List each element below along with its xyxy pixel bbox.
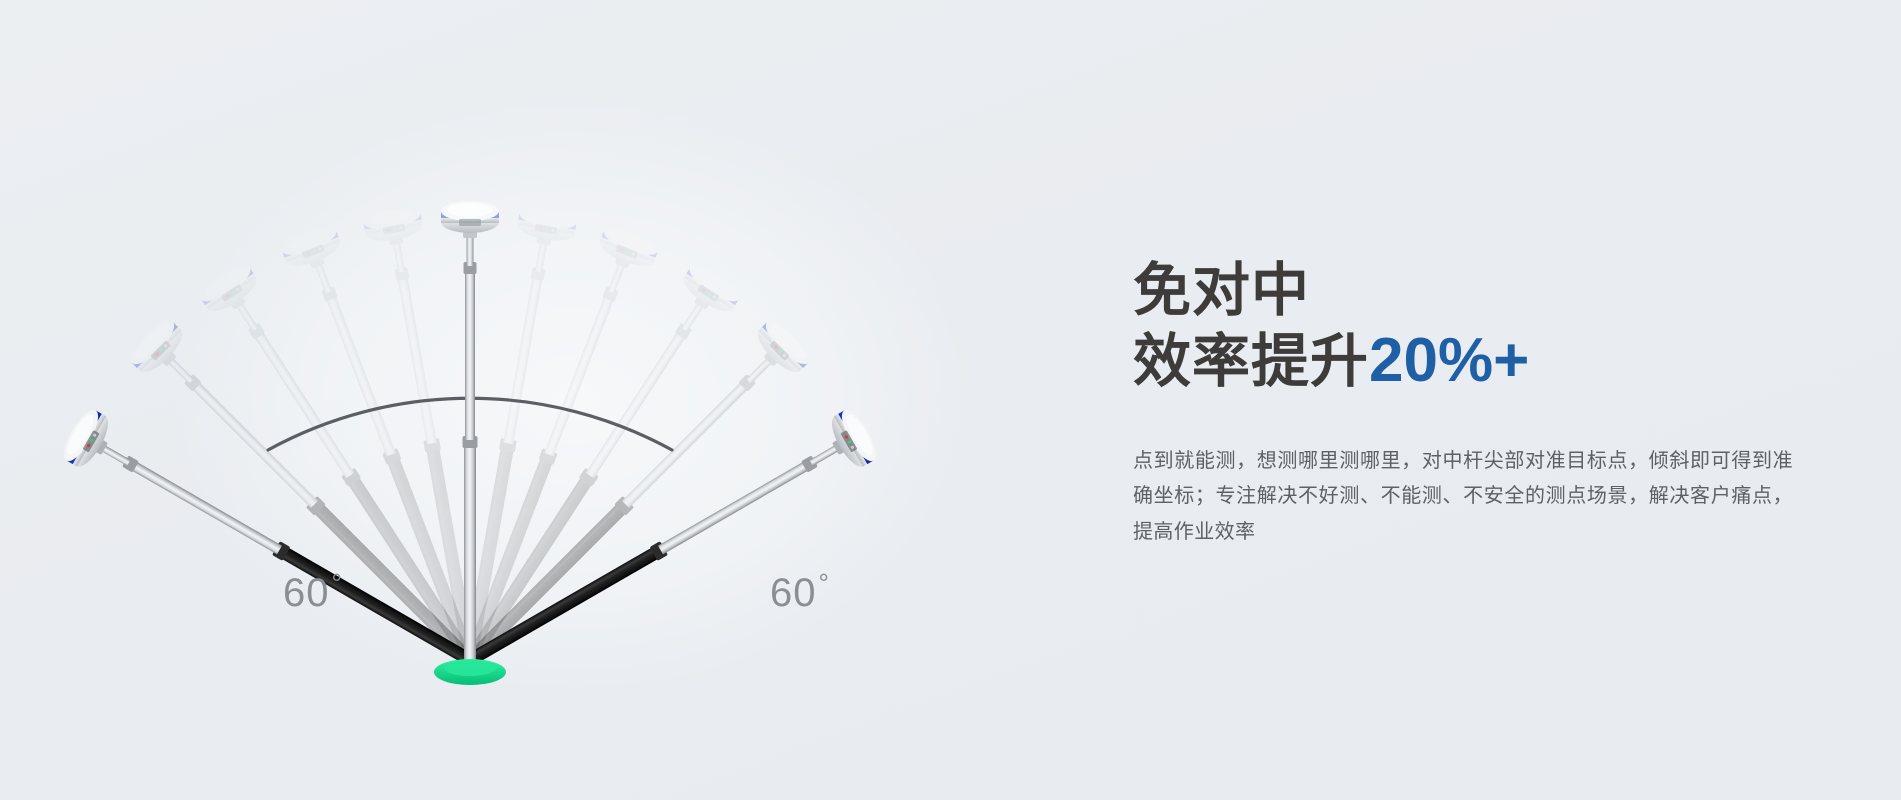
degree-symbol-left: ° [332,568,343,598]
angle-label-left: 60° [283,570,343,613]
feature-description: 点到就能测，想测哪里测哪里，对中杆尖部对准目标点，倾斜即可得到准确坐标；专注解决… [1133,444,1793,551]
survey-point-marker [434,659,506,685]
headline-line-2: 效率提升20%+ [1133,326,1833,396]
headline-line-1: 免对中 [1133,258,1833,324]
feature-content: 免对中 效率提升20%+ 点到就能测，想测哪里测哪里，对中杆尖部对准目标点，倾斜… [1133,258,1833,550]
tilt-compensation-illustration: 60° 60° [0,0,1000,800]
angle-value-right: 60 [770,571,817,615]
degree-symbol-right: ° [819,568,830,598]
pole-fan-solid [58,201,882,685]
headline-line-2-prefix: 效率提升 [1133,329,1369,394]
headline-accent-metric: 20%+ [1369,326,1529,395]
product-feature-banner: 60° 60° 免对中 效率提升20%+ 点到就能测，想测哪里测哪里，对中杆尖部… [0,0,1901,800]
angle-label-right: 60° [770,570,830,613]
angle-value-left: 60 [283,571,330,615]
